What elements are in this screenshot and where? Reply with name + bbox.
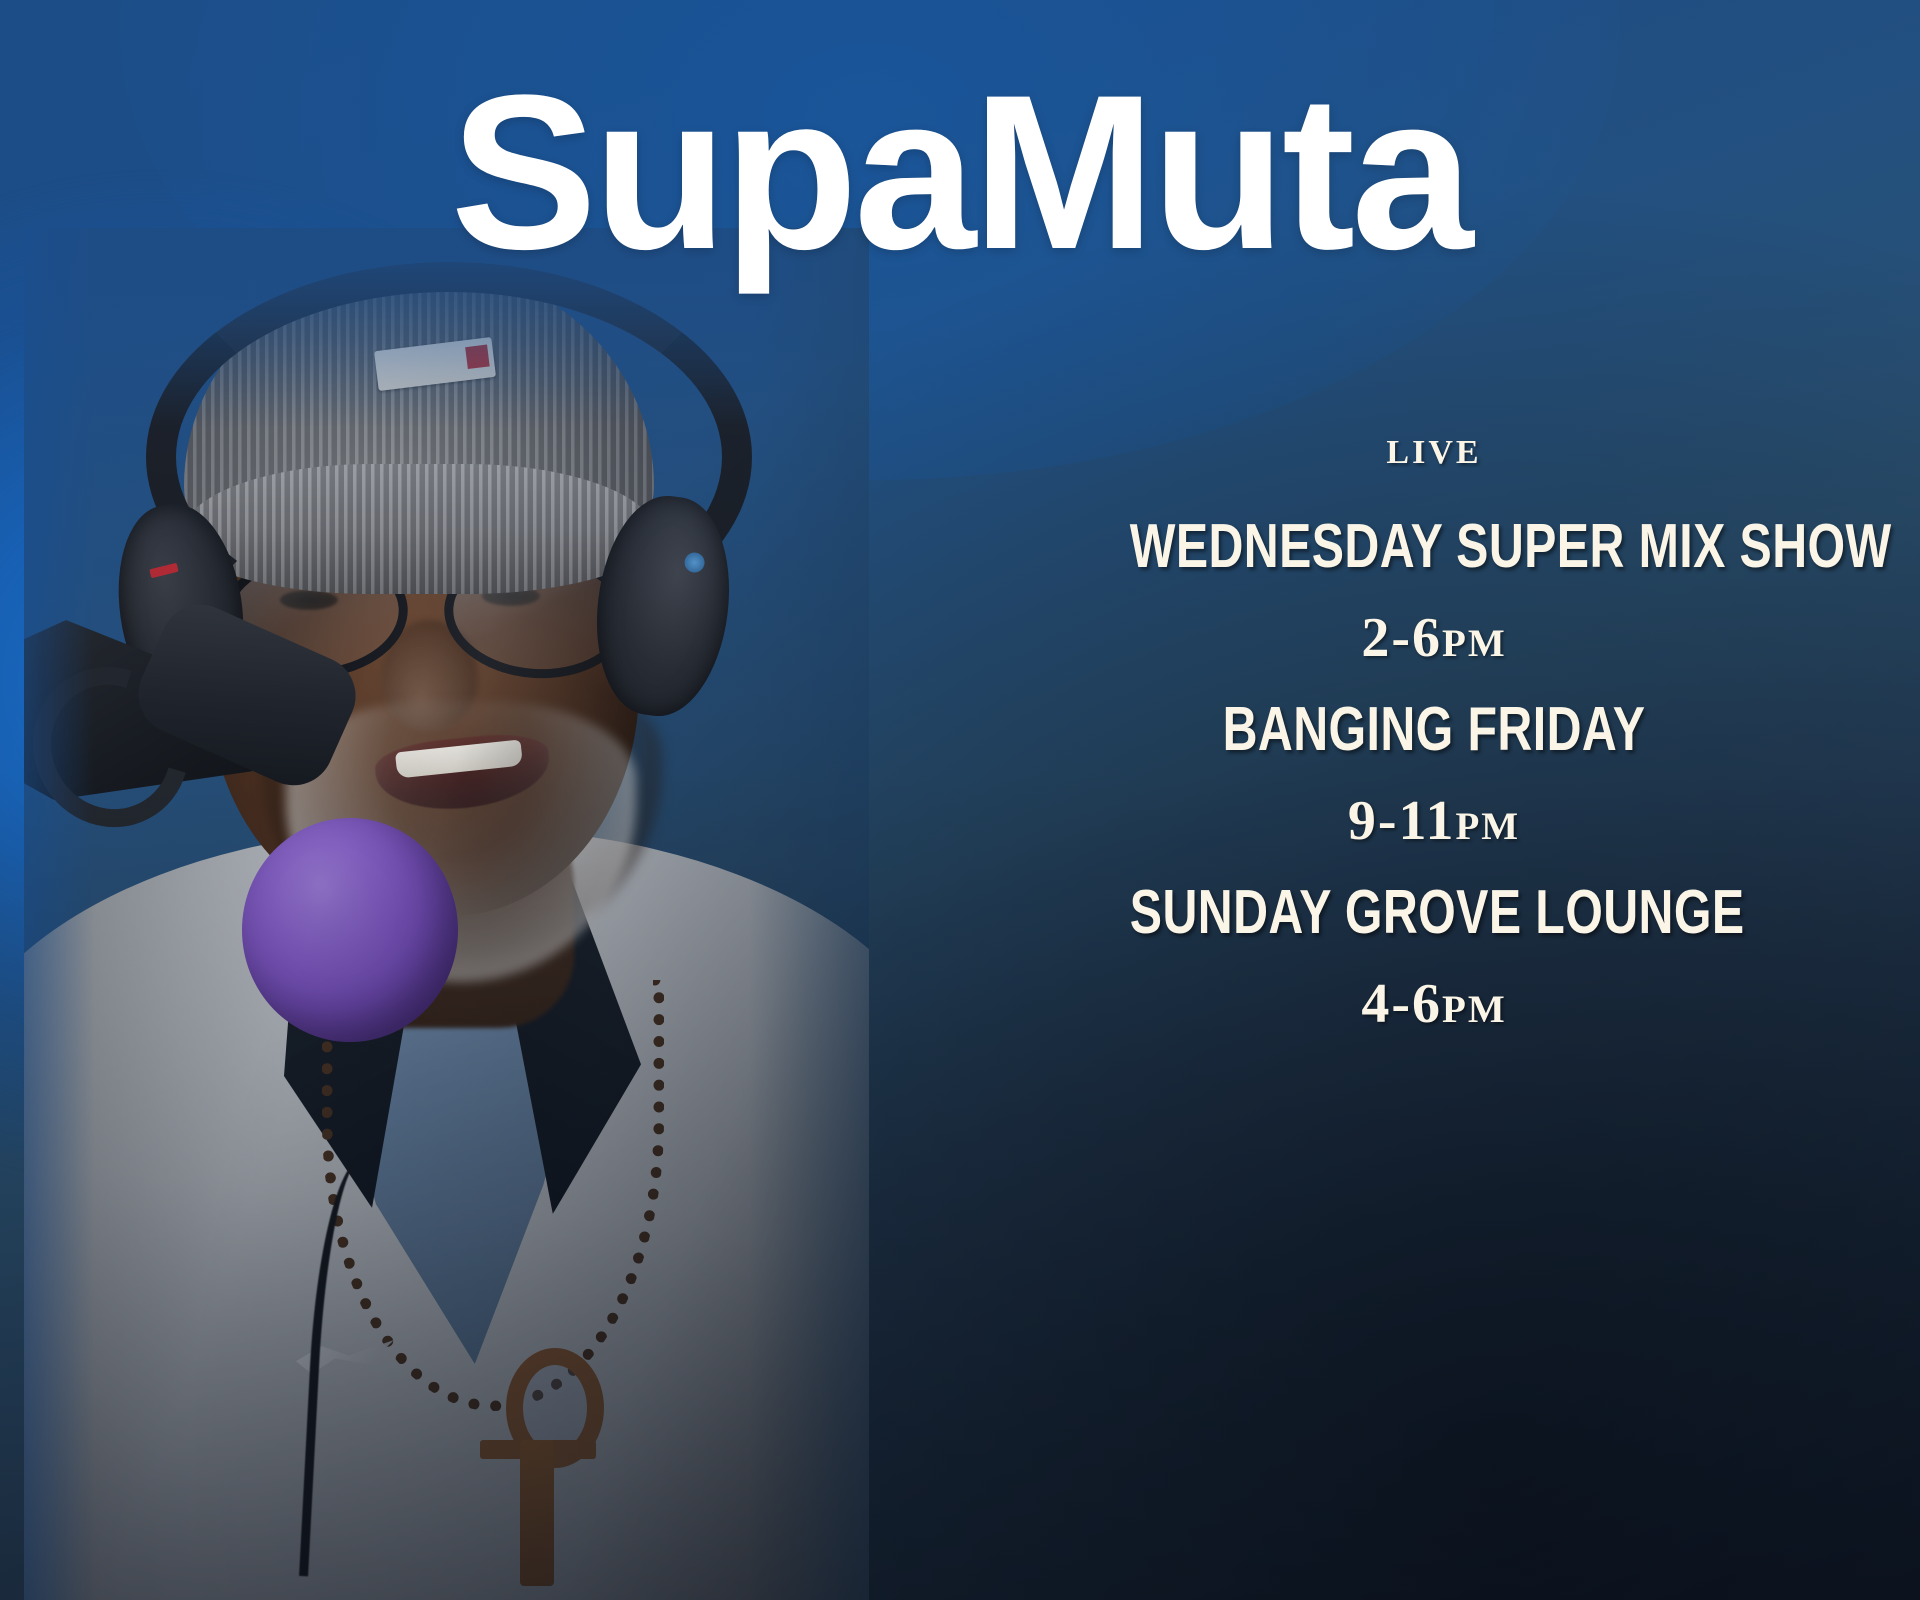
- show-name-friday: BANGING FRIDAY: [1130, 694, 1738, 765]
- live-label: Live: [1044, 420, 1824, 475]
- time-ampm-wednesday: PM: [1442, 607, 1507, 669]
- time-ampm-sunday: PM: [1442, 973, 1507, 1035]
- show-time-friday: 9-11PM: [1044, 789, 1824, 853]
- show-name-sunday: SUNDAY GROVE LOUNGE: [1130, 877, 1738, 948]
- page-title: SupaMuta: [0, 62, 1920, 282]
- time-ampm-friday: PM: [1455, 790, 1520, 852]
- time-digits-friday: 9-11: [1348, 790, 1456, 852]
- time-digits-wednesday: 2-6: [1361, 607, 1442, 669]
- poster-canvas: SupaMuta: [0, 0, 1920, 1600]
- show-time-wednesday: 2-6PM: [1044, 606, 1824, 670]
- show-name-wednesday: WEDNESDAY SUPER MIX SHOW: [1130, 511, 1738, 582]
- schedule-block: Live WEDNESDAY SUPER MIX SHOW 2-6PM BANG…: [1044, 420, 1824, 1060]
- time-digits-sunday: 4-6: [1361, 973, 1442, 1035]
- show-time-sunday: 4-6PM: [1044, 972, 1824, 1036]
